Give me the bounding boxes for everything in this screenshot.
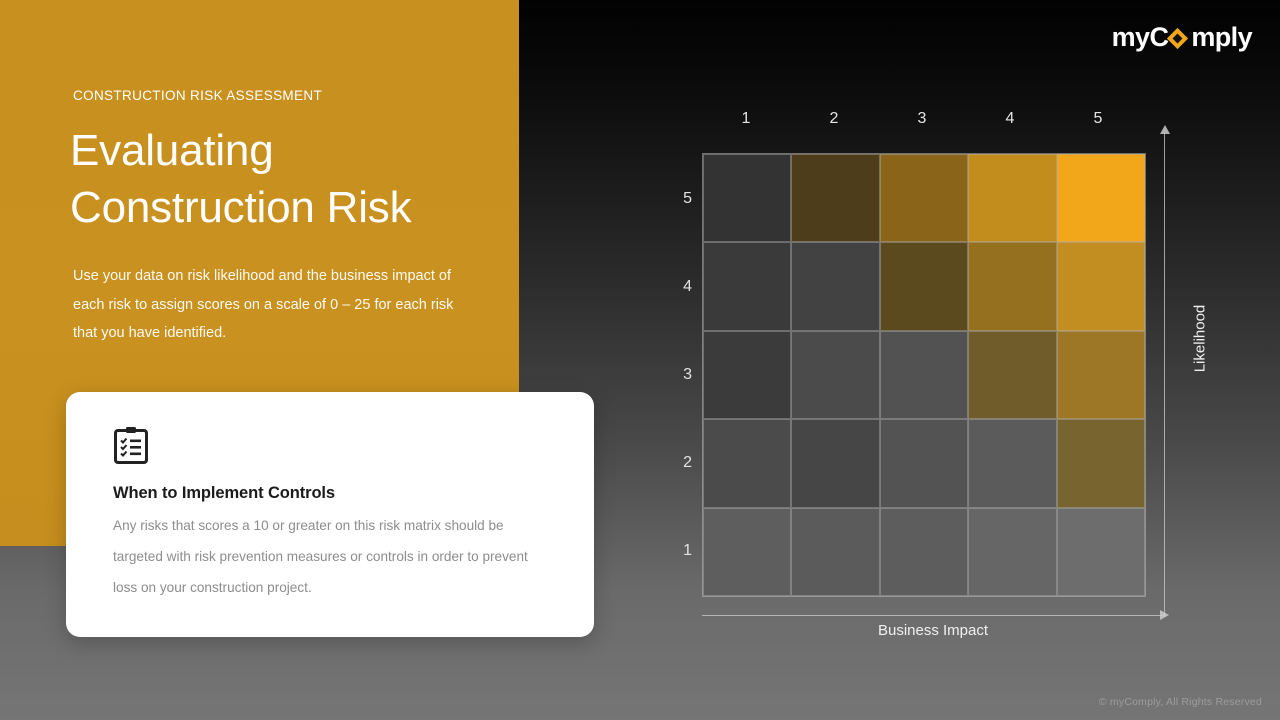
logo-text-c: C	[1149, 22, 1168, 53]
matrix-cell	[1057, 154, 1145, 242]
matrix-cell	[1057, 419, 1145, 507]
matrix-cell	[703, 242, 791, 330]
logo-text-mply: mply	[1191, 22, 1252, 53]
footer-copyright: © myComply, All Rights Reserved	[1099, 696, 1262, 708]
matrix-cell	[968, 508, 1056, 596]
matrix-cell	[968, 154, 1056, 242]
y-tick-label: 5	[652, 190, 692, 208]
matrix-grid	[702, 153, 1146, 597]
x-tick-label: 4	[966, 110, 1054, 128]
x-axis-line	[702, 615, 1164, 616]
matrix-cell	[880, 331, 968, 419]
matrix-cell	[880, 242, 968, 330]
clipboard-checklist-icon	[114, 426, 148, 464]
x-axis-label: Business Impact	[702, 622, 1164, 639]
y-tick-label: 3	[652, 366, 692, 384]
matrix-cell	[791, 154, 879, 242]
y-tick-label: 2	[652, 454, 692, 472]
matrix-cell	[703, 508, 791, 596]
card-body: Any risks that scores a 10 or greater on…	[113, 510, 553, 603]
y-tick-label: 1	[652, 542, 692, 560]
matrix-cell	[703, 419, 791, 507]
matrix-cell	[880, 154, 968, 242]
y-tick-label: 4	[652, 278, 692, 296]
card-title: When to Implement Controls	[113, 484, 335, 503]
diamond-icon	[1168, 24, 1191, 51]
matrix-cell	[791, 508, 879, 596]
matrix-cell	[880, 419, 968, 507]
matrix-cell	[968, 242, 1056, 330]
matrix-cell	[1057, 331, 1145, 419]
matrix-cell	[1057, 508, 1145, 596]
matrix-cell	[880, 508, 968, 596]
x-tick-label: 1	[702, 110, 790, 128]
x-tick-label: 2	[790, 110, 878, 128]
matrix-cell	[791, 419, 879, 507]
logo-text-my: my	[1112, 22, 1150, 53]
mycomply-logo: my C mply	[1112, 22, 1252, 53]
eyebrow-text: CONSTRUCTION RISK ASSESSMENT	[73, 88, 322, 103]
x-tick-label: 3	[878, 110, 966, 128]
x-tick-label: 5	[1054, 110, 1142, 128]
matrix-cell	[703, 331, 791, 419]
matrix-cell	[1057, 242, 1145, 330]
matrix-cell	[968, 419, 1056, 507]
matrix-cell	[968, 331, 1056, 419]
matrix-cell	[791, 331, 879, 419]
y-axis-line	[1164, 133, 1165, 617]
y-axis-label: Likelihood	[1192, 279, 1209, 399]
matrix-cell	[791, 242, 879, 330]
page-title: Evaluating Construction Risk	[70, 122, 500, 236]
y-axis-arrow-icon	[1160, 125, 1170, 134]
lead-paragraph: Use your data on risk likelihood and the…	[73, 262, 465, 348]
callout-card: When to Implement Controls Any risks tha…	[66, 392, 594, 637]
matrix-cell	[703, 154, 791, 242]
